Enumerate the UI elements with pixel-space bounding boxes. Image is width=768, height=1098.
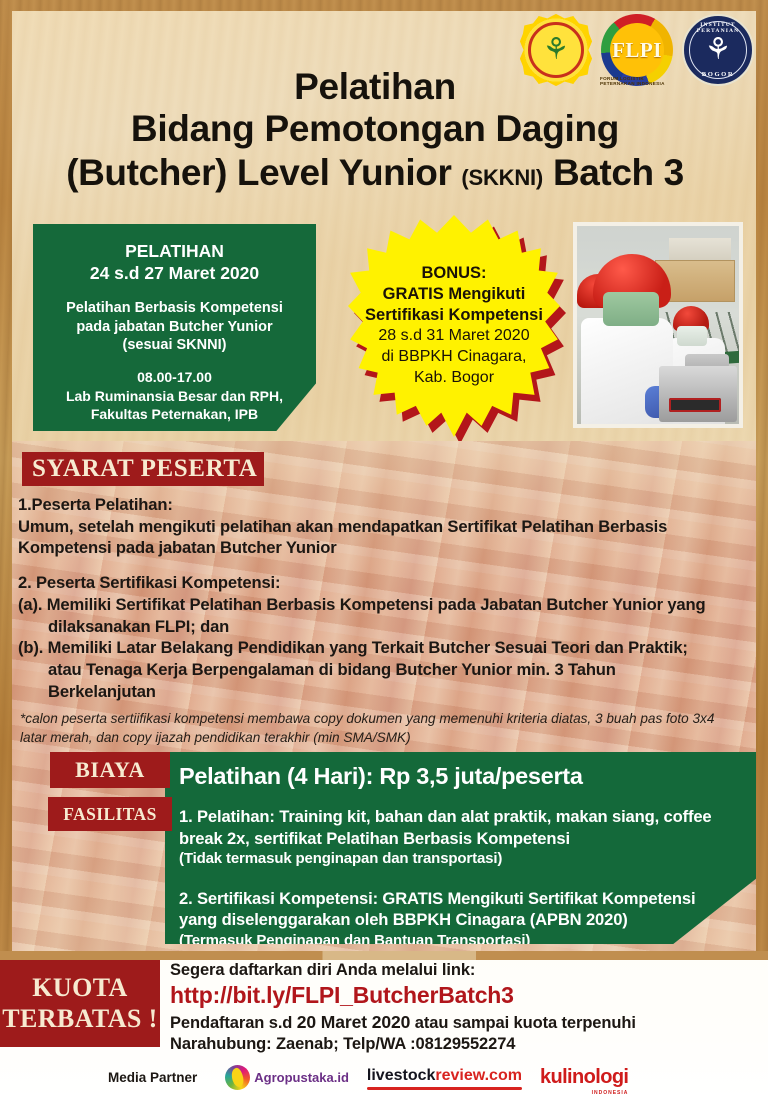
syarat-item-1-line-1: Umum, setelah mengikuti pelatihan akan m… — [18, 516, 754, 538]
syarat-item-2b-line-1: (b). Memiliki Latar Belakang Pendidikan … — [18, 637, 754, 659]
kuota-line-1: KUOTA — [32, 973, 127, 1003]
fasilitas-label: FASILITAS — [48, 797, 172, 831]
training-schedule-box: PELATIHAN 24 s.d 27 Maret 2020 Pelatihan… — [33, 224, 316, 431]
lsr-text-1: livestock — [367, 1067, 435, 1084]
syarat-footnote-line-2: latar merah, dan copy ijazah pendidikan … — [20, 728, 758, 747]
deadline-date: 20 Maret 2020 — [297, 1012, 411, 1032]
kuota-terbatas-badge: KUOTA TERBATAS ! — [0, 960, 160, 1047]
flpi-logo: FLPI FORUM LOGISTIK PETERNAKAN INDONESIA — [601, 14, 673, 86]
cost-facilities-box: Pelatihan (4 Hari): Rp 3,5 juta/peserta … — [165, 752, 756, 944]
bonus-line-6: Kab. Bogor — [414, 368, 494, 389]
syarat-item-2: 2. Peserta Sertifikasi Kompetensi: (a). … — [18, 572, 754, 702]
syarat-peserta-body: 1.Peserta Pelatihan: Umum, setelah mengi… — [18, 494, 754, 716]
kulinologi-logo-sub: INDONESIA — [592, 1090, 629, 1096]
schedule-body-1: Pelatihan Berbasis Kompetensi — [45, 299, 304, 318]
flpi-logo-ring-text: FORUM LOGISTIK PETERNAKAN INDONESIA — [600, 13, 674, 87]
syarat-item-1-head: 1.Peserta Pelatihan: — [18, 494, 754, 516]
training-photo — [573, 222, 743, 428]
deadline-suffix: atau sampai kuota terpenuhi — [410, 1014, 636, 1032]
syarat-item-2b-line-3: Berkelanjutan — [18, 681, 754, 703]
facility-1-note: (Tidak termasuk penginapan dan transport… — [179, 849, 742, 869]
facility-2-line-1: 2. Sertifikasi Kompetensi: GRATIS Mengik… — [179, 888, 742, 910]
agropustaka-logo-text: Agropustaka.id — [254, 1070, 349, 1085]
biaya-label: BIAYA — [50, 752, 170, 788]
registration-deadline: Pendaftaran s.d 20 Maret 2020 atau sampa… — [170, 1012, 766, 1033]
registration-intro: Segera daftarkan diri Anda melalui link: — [170, 961, 766, 980]
starburst-text: BONUS: GRATIS Mengikuti Sertifikasi Komp… — [348, 215, 560, 437]
ipb-logo-top-text: INSTITUT PERTANIAN — [684, 22, 752, 34]
ipb-logo: INSTITUT PERTANIAN ⚘ BOGOR — [682, 14, 754, 86]
facility-2-line-2: yang diselenggarakan oleh BBPKH Cinagara… — [179, 909, 742, 931]
kuota-line-2: TERBATAS ! — [2, 1004, 157, 1034]
agropustaka-logo: Agropustaka.id — [225, 1065, 349, 1090]
schedule-foot-3: Fakultas Peternakan, IPB — [45, 405, 304, 423]
facility-item-2: 2. Sertifikasi Kompetensi: GRATIS Mengik… — [179, 888, 742, 951]
deadline-prefix: Pendaftaran s.d — [170, 1014, 297, 1032]
ipb-logo-bottom-text: BOGOR — [684, 71, 752, 78]
kulinologi-logo: kulinologiINDONESIA — [540, 1066, 628, 1089]
photo-worker-2-mask — [677, 326, 707, 346]
schedule-head-2: 24 s.d 27 Maret 2020 — [45, 262, 304, 284]
bonus-line-4: 28 s.d 31 Maret 2020 — [378, 326, 529, 347]
bonus-line-1: BONUS: — [421, 263, 486, 284]
syarat-item-2-head: 2. Peserta Sertifikasi Kompetensi: — [18, 572, 754, 594]
syarat-item-1: 1.Peserta Pelatihan: Umum, setelah mengi… — [18, 494, 754, 559]
media-partner-row: Media Partner Agropustaka.id livestockre… — [108, 1058, 708, 1096]
livestockreview-logo: livestockreview.com — [367, 1067, 522, 1088]
title-skkni: (SKKNI) — [461, 165, 543, 190]
registration-info: Segera daftarkan diri Anda melalui link:… — [170, 961, 766, 1054]
facility-1-line-2: break 2x, sertifikat Pelatihan Berbasis … — [179, 828, 742, 850]
syarat-item-2a-line-2: dilaksanakan FLPI; dan — [18, 616, 754, 638]
bonus-line-3: Sertifikasi Kompetensi — [365, 305, 543, 326]
cost-headline: Pelatihan (4 Hari): Rp 3,5 juta/peserta — [179, 762, 742, 790]
registration-contact: Narahubung: Zaenab; Telp/WA :08129552274 — [170, 1035, 766, 1054]
poster-root: ⚘ FLPI FORUM LOGISTIK PETERNAKAN INDONES… — [0, 0, 768, 1098]
ipb-tree-icon: ⚘ — [705, 35, 732, 65]
syarat-peserta-label: SYARAT PESERTA — [22, 452, 264, 486]
title-batch: Batch 3 — [553, 152, 684, 193]
bonus-line-2: GRATIS Mengikuti — [383, 284, 526, 305]
kulinologi-logo-text: kulinologi — [540, 1066, 628, 1088]
facility-1-line-1: 1. Pelatihan: Training kit, bahan dan al… — [179, 806, 742, 828]
photo-worker-1-mask — [603, 292, 659, 326]
title-line-3: (Butcher) Level Yunior (SKKNI) Batch 3 — [30, 151, 720, 195]
facility-item-1: 1. Pelatihan: Training kit, bahan dan al… — [179, 806, 742, 869]
agropustaka-mark-icon — [225, 1065, 250, 1090]
schedule-foot-1: 08.00-17.00 — [45, 368, 304, 386]
syarat-footnote: *calon peserta sertiifikasi kompetensi m… — [20, 709, 758, 748]
media-partner-label: Media Partner — [108, 1070, 197, 1085]
lsr-text-2: review — [435, 1067, 484, 1084]
lsr-text-3: .com — [485, 1067, 522, 1084]
syarat-item-2a-line-1: (a). Memiliki Sertifikat Pelatihan Berba… — [18, 594, 754, 616]
title-line-2: Bidang Pemotongan Daging — [30, 108, 720, 150]
syarat-footnote-line-1: *calon peserta sertiifikasi kompetensi m… — [20, 709, 758, 728]
schedule-foot-2: Lab Ruminansia Besar dan RPH, — [45, 387, 304, 405]
footer-divider — [0, 951, 768, 960]
photo-weighing-scale — [659, 366, 737, 422]
bonus-starburst: BONUS: GRATIS Mengikuti Sertifikasi Komp… — [348, 215, 560, 437]
title-line-3-main: (Butcher) Level Yunior — [66, 152, 451, 193]
schedule-body-2: pada jabatan Butcher Yunior — [45, 318, 304, 337]
syarat-item-2b-line-2: atau Tenaga Kerja Berpengalaman di bidan… — [18, 659, 754, 681]
schedule-body-3: (sesuai SKNNI) — [45, 336, 304, 355]
syarat-item-1-line-2: Kompetensi pada jabatan Butcher Yunior — [18, 537, 754, 559]
schedule-head-1: PELATIHAN — [45, 240, 304, 262]
bonus-line-5: di BBPKH Cinagara, — [382, 347, 527, 368]
registration-link[interactable]: http://bit.ly/FLPI_ButcherBatch3 — [170, 982, 766, 1009]
